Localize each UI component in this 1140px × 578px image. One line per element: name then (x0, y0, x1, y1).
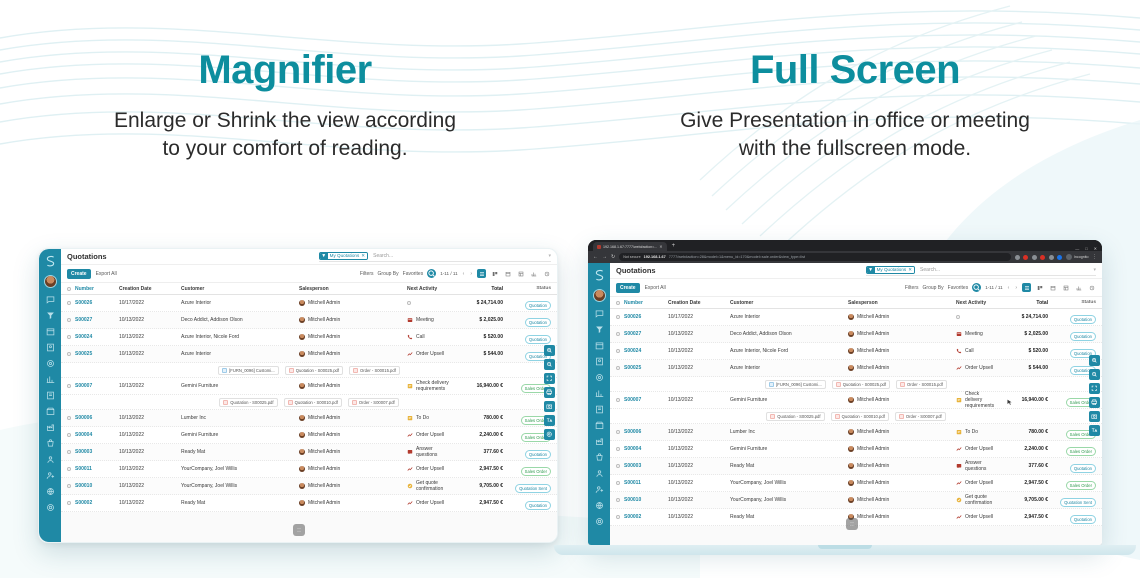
facet-remove-icon[interactable]: ✕ (908, 266, 914, 274)
attachment-chip[interactable]: Quotation - S00010.pdf (831, 412, 889, 421)
column-header-creation-date[interactable]: Creation Date (668, 300, 730, 306)
browser-toolbar: ← → ↻ Not secure 192.168.1.67 7777/web#a… (588, 251, 1102, 263)
translate-button[interactable] (544, 415, 555, 426)
print-button[interactable] (544, 387, 555, 398)
window-close-button[interactable]: ✕ (1094, 246, 1097, 251)
status-badge: Quotation Sent (515, 484, 551, 493)
table-row[interactable]: S0000410/13/2022Gemini FurnitureMitchell… (610, 441, 1102, 458)
cell-next-activity: Order Upsell (956, 480, 996, 486)
cell-status: Quotation (1048, 325, 1096, 343)
attachment-pdf-icon (289, 368, 294, 373)
browser-back-button[interactable]: ← (593, 254, 598, 260)
attachment-chip[interactable]: Quotation - S00025.pdf (832, 380, 890, 389)
column-header-customer[interactable]: Customer (181, 286, 299, 292)
pager-count: 1-11 / 11 (985, 285, 1002, 290)
extension-icon-4[interactable] (1049, 255, 1054, 260)
screenshot-button[interactable] (544, 401, 555, 412)
sidebar-icon-invoicing[interactable] (46, 391, 55, 400)
cell-customer: Deco Addict, Addison Olson (181, 317, 299, 323)
user-avatar[interactable] (593, 289, 606, 302)
view-button-pivot[interactable] (1061, 283, 1070, 292)
cell-salesperson: Mitchell Admin (848, 314, 956, 320)
search-input[interactable]: Search... (920, 267, 1093, 273)
column-header-next-activity[interactable]: Next Activity (407, 286, 451, 292)
table-row[interactable]: S0001010/13/2022YourCompany, Joel Willis… (610, 492, 1102, 509)
cell-next-activity: Order Upsell (407, 351, 451, 357)
cell-salesperson: Mitchell Admin (299, 466, 407, 472)
column-header-status[interactable]: Status (503, 286, 551, 291)
sidebar-icon-inventory[interactable] (595, 421, 604, 430)
cell-total: 2,947.50 € (451, 466, 503, 472)
cell-number[interactable]: S00025 (620, 365, 668, 371)
laptop-trackpad-notch (818, 545, 872, 549)
table-row[interactable]: S0002510/13/2022Azure InteriorMitchell A… (610, 360, 1102, 377)
cell-salesperson: Mitchell Admin (848, 497, 956, 503)
cell-number[interactable]: S00027 (71, 317, 119, 323)
cell-next-activity: Check delivery requirements (407, 380, 451, 392)
pager-count: 1-11 / 11 (440, 271, 457, 276)
cell-next-activity: Call (956, 348, 996, 354)
todo-icon (407, 383, 413, 389)
export-all-button[interactable]: Export All (645, 285, 666, 291)
cell-customer: Ready Mat (730, 463, 848, 469)
extension-icon-3[interactable] (1040, 255, 1045, 260)
favorites-dropdown[interactable]: Favorites (403, 271, 424, 277)
app-sidebar-laptop[interactable] (588, 263, 610, 545)
dock-settings-button[interactable] (544, 429, 555, 440)
cell-total: 2,947.50 € (451, 500, 503, 506)
facet-label: My Quotations (875, 266, 909, 274)
odoo-app-laptop: Quotations ▼ My Quotations ✕ Search... ▾ (588, 263, 1102, 545)
table-row[interactable]: S0001110/13/2022YourCompany, Joel Willis… (61, 461, 557, 478)
sidebar-icon-settings[interactable] (46, 503, 55, 512)
salesperson-avatar (848, 365, 854, 371)
view-button-graph[interactable] (529, 269, 538, 278)
magnifier-icon (427, 269, 436, 278)
facet-remove-icon[interactable]: ✕ (361, 252, 367, 260)
view-button-activity[interactable] (1087, 283, 1096, 292)
pager-prev-button[interactable]: ‹ (462, 271, 466, 277)
cell-total: 780.00 € (996, 429, 1048, 435)
cell-salesperson: Mitchell Admin (299, 449, 407, 455)
salesperson-avatar (848, 463, 854, 469)
cell-next-activity: Order Upsell (407, 432, 451, 438)
favorites-dropdown[interactable]: Favorites (948, 285, 969, 291)
cell-total: 2,947.50 € (996, 480, 1048, 486)
column-header-salesperson[interactable]: Salesperson (848, 300, 956, 306)
column-header-customer[interactable]: Customer (730, 300, 848, 306)
cell-number[interactable]: S00026 (71, 300, 119, 306)
sidebar-icon-filter[interactable] (46, 311, 55, 320)
create-button-label: Create (620, 285, 636, 291)
cell-creation-date: 10/13/2022 (668, 446, 730, 452)
browser-tab[interactable]: 192.168.1.67:7777/web#action=... ✕ (593, 242, 667, 251)
new-tab-button[interactable]: + (672, 242, 676, 251)
browser-forward-button[interactable]: → (602, 254, 607, 260)
bookmark-star-icon[interactable] (1015, 255, 1020, 260)
magnifier-subtitle-line2: to your comfort of reading. (162, 137, 407, 160)
search-area[interactable]: ▼ My Quotations ✕ Search... ▾ (319, 252, 551, 262)
filters-dropdown[interactable]: Filters (905, 285, 919, 291)
cell-customer: YourCompany, Joel Willis (181, 466, 299, 472)
todo-icon (407, 415, 413, 421)
column-header-next-activity[interactable]: Next Activity (956, 300, 996, 306)
column-header-creation-date[interactable]: Creation Date (119, 286, 181, 292)
search-toggle-icon[interactable]: ▾ (548, 253, 551, 259)
table-row[interactable]: S0000710/13/2022Gemini FurnitureMitchell… (610, 392, 1102, 409)
sidebar-icon-manufacturing[interactable] (46, 423, 55, 432)
sidebar-icon-website[interactable] (595, 501, 604, 510)
window-controls: — □ ✕ (1075, 246, 1102, 251)
fullscreen-button[interactable] (544, 373, 555, 384)
section-magnifier: Magnifier Enlarge or Shrink the view acc… (0, 0, 570, 162)
salesperson-avatar (299, 449, 305, 455)
cell-customer: YourCompany, Joel Willis (730, 480, 848, 486)
column-header-number[interactable]: Number (71, 286, 119, 292)
extension-icon-2[interactable] (1032, 255, 1037, 260)
attachment-chip-label: Quotation - S00010.pdf (842, 414, 885, 419)
cell-salesperson: Mitchell Admin (299, 300, 407, 306)
pager-next-button[interactable]: › (469, 271, 473, 277)
cell-next-activity: Order Upsell (956, 514, 996, 520)
attachment-pdf-icon (770, 414, 775, 419)
incognito-profile-chip[interactable]: Incognito (1066, 254, 1089, 260)
cell-creation-date: 10/13/2022 (668, 480, 730, 486)
sidebar-icon-employees[interactable] (46, 455, 55, 464)
extension-icon-1[interactable] (1023, 255, 1028, 260)
attachment-chip-label: Quotation - S00025.pdf (777, 414, 820, 419)
sidebar-icon-recruitment[interactable] (46, 471, 55, 480)
cell-total: $ 544.00 (996, 365, 1048, 371)
sidebar-icon-sales[interactable] (46, 359, 55, 368)
sidebar-icon-reporting[interactable] (595, 389, 604, 398)
cell-customer: Gemini Furniture (181, 432, 299, 438)
cell-creation-date: 10/13/2022 (668, 331, 730, 337)
cell-status: Sales Order (1048, 440, 1096, 458)
upsell-icon (407, 466, 413, 472)
zoom-out-button[interactable] (544, 359, 555, 370)
search-toggle-icon[interactable]: ▾ (1093, 267, 1096, 273)
attachment-chip[interactable]: Quotation - S00010.pdf (284, 398, 342, 407)
cell-number[interactable]: S00004 (620, 446, 668, 452)
pager-prev-button[interactable]: ‹ (1007, 285, 1011, 291)
sidebar-icon-calendar[interactable] (595, 341, 604, 350)
sidebar-icon-website[interactable] (46, 487, 55, 496)
view-button-kanban[interactable] (1035, 283, 1044, 292)
question-icon (407, 449, 413, 455)
cell-number[interactable]: S00011 (620, 480, 668, 486)
cell-creation-date: 10/13/2022 (119, 351, 181, 357)
salesperson-avatar (299, 432, 305, 438)
cell-salesperson: Mitchell Admin (299, 317, 407, 323)
cell-number[interactable]: S00010 (71, 483, 119, 489)
table-row[interactable]: S0001010/13/2022YourCompany, Joel Willis… (61, 478, 557, 495)
create-button[interactable]: Create (67, 269, 91, 279)
pager-next-button[interactable]: › (1014, 285, 1018, 291)
cell-customer: Azure Interior (730, 314, 848, 320)
table-row[interactable]: S0002510/13/2022Azure InteriorMitchell A… (61, 346, 557, 363)
sidebar-icon-settings[interactable] (595, 517, 604, 526)
drag-handle-chip[interactable] (293, 524, 305, 536)
table-row[interactable]: S0002610/17/2022Azure InteriorMitchell A… (610, 309, 1102, 326)
table-row[interactable]: S0000610/13/2022Lumber IncMitchell Admin… (61, 410, 557, 427)
sidebar-icon-messages[interactable] (595, 309, 604, 318)
sidebar-icon-employees[interactable] (595, 469, 604, 478)
tab-close-icon[interactable]: ✕ (659, 244, 662, 249)
view-button-kanban[interactable] (490, 269, 499, 278)
browser-menu-button[interactable]: ⋮ (1092, 254, 1097, 260)
cell-creation-date: 10/13/2022 (119, 334, 181, 340)
attachment-chip-label: [FURN_0096] Customi... (776, 382, 822, 387)
cell-number[interactable]: S00002 (620, 514, 668, 520)
browser-reload-button[interactable]: ↻ (611, 254, 615, 260)
table-row[interactable]: S0002710/13/2022Deco Addict, Addison Ols… (61, 312, 557, 329)
cell-number[interactable]: S00002 (71, 500, 119, 506)
attachment-chip[interactable]: Quotation - S00025.pdf (766, 412, 824, 421)
view-button-graph[interactable] (1074, 283, 1083, 292)
cell-total: $ 2,025.00 (451, 317, 503, 323)
status-badge: Quotation (1070, 464, 1096, 473)
cell-total: 16,940.00 € (451, 383, 503, 389)
filters-dropdown[interactable]: Filters (360, 271, 374, 277)
cell-status: Quotation Sent (503, 477, 551, 495)
incognito-icon (1066, 254, 1072, 260)
app-logo-icon (43, 254, 58, 269)
table-row[interactable]: S0002610/17/2022Azure InteriorMitchell A… (61, 295, 557, 312)
cell-number[interactable]: S00025 (71, 351, 119, 357)
sidebar-icon-messages[interactable] (46, 295, 55, 304)
column-header-salesperson[interactable]: Salesperson (299, 286, 407, 292)
salesperson-avatar (848, 480, 854, 486)
translate-button[interactable] (1089, 425, 1100, 436)
table-row[interactable]: S0000310/13/2022Ready MatMitchell AdminA… (61, 444, 557, 461)
search-facet-my-quotations[interactable]: ▼ My Quotations ✕ (866, 266, 915, 274)
cell-number[interactable]: S00004 (71, 432, 119, 438)
status-badge: Quotation (1070, 515, 1096, 524)
cell-total: 377.60 € (996, 463, 1048, 469)
cell-salesperson: Mitchell Admin (848, 429, 956, 435)
table-row[interactable]: S0000610/13/2022Lumber IncMitchell Admin… (610, 424, 1102, 441)
cell-total: $ 520.00 (996, 348, 1048, 354)
salesperson-avatar (299, 351, 305, 357)
sidebar-icon-filter[interactable] (595, 325, 604, 334)
table-row[interactable]: S0001110/13/2022YourCompany, Joel Willis… (610, 475, 1102, 492)
sidebar-icon-purchase[interactable] (595, 453, 604, 462)
attachment-chip[interactable]: Quotation - S00025.pdf (219, 398, 277, 407)
table-row[interactable]: S0002410/13/2022Azure Interior, Nicole F… (61, 329, 557, 346)
attachment-xls-icon (769, 382, 774, 387)
status-badge: Quotation Sent (1060, 498, 1096, 507)
cell-number[interactable]: S00006 (71, 415, 119, 421)
attachment-chip[interactable]: [FURN_0096] Customi... (765, 380, 826, 389)
search-input[interactable]: Search... (373, 253, 548, 259)
column-header-total[interactable]: Total (451, 286, 503, 292)
attachment-row: [FURN_0096] Customi...Quotation - S00025… (61, 363, 557, 378)
cell-next-activity (956, 315, 996, 319)
salesperson-avatar (848, 314, 854, 320)
cell-number[interactable]: S00007 (620, 397, 668, 403)
magnifier-toggle-button[interactable] (427, 269, 436, 278)
salesperson-avatar (299, 483, 305, 489)
breadcrumb[interactable]: Quotations (616, 266, 656, 275)
browser-tab-title: 192.168.1.67:7777/web#action=... (603, 245, 657, 249)
cell-number[interactable]: S00010 (620, 497, 668, 503)
zoom-in-button[interactable] (1089, 355, 1100, 366)
view-button-calendar[interactable] (503, 269, 512, 278)
cell-creation-date: 10/13/2022 (119, 500, 181, 506)
meeting-icon (956, 331, 962, 337)
drag-dots-icon (296, 527, 302, 533)
sidebar-icon-recruitment[interactable] (595, 485, 604, 494)
control-panel-actions: Filters Group By Favorites 1-11 / 11 ‹ › (360, 269, 551, 278)
cell-next-activity: Call (407, 334, 451, 340)
fullscreen-button[interactable] (1089, 383, 1100, 394)
cell-next-activity: Order Upsell (407, 500, 451, 506)
cell-salesperson: Mitchell Admin (848, 446, 956, 452)
column-header-total[interactable]: Total (996, 300, 1048, 306)
salesperson-avatar (299, 466, 305, 472)
status-badge: Quotation (525, 301, 551, 310)
view-button-pivot[interactable] (516, 269, 525, 278)
attachment-row: Quotation - S00025.pdfQuotation - S00010… (61, 395, 557, 410)
table-header-row: Number Creation Date Customer Salesperso… (61, 282, 557, 295)
cell-next-activity: To Do (956, 429, 996, 435)
cell-number[interactable]: S00026 (620, 314, 668, 320)
column-header-status[interactable]: Status (1048, 300, 1096, 305)
cell-number[interactable]: S00003 (620, 463, 668, 469)
cell-number[interactable]: S00027 (620, 331, 668, 337)
cell-salesperson: Mitchell Admin (848, 463, 956, 469)
groupby-dropdown[interactable]: Group By (378, 271, 399, 277)
fullscreen-subtitle: Give Presentation in office or meeting w… (570, 107, 1140, 162)
column-header-number[interactable]: Number (620, 300, 668, 306)
magnifier-tool-dock[interactable] (544, 345, 555, 440)
export-button-label: Export All (645, 285, 666, 291)
zoom-out-button[interactable] (1089, 369, 1100, 380)
headings-row: Magnifier Enlarge or Shrink the view acc… (0, 0, 1140, 162)
user-avatar[interactable] (44, 275, 57, 288)
attachment-pdf-icon (353, 368, 358, 373)
browser-address-bar[interactable]: Not secure 192.168.1.67 7777/web#action=… (619, 253, 1011, 261)
cell-salesperson: Mitchell Admin (299, 500, 407, 506)
view-button-list[interactable] (1022, 283, 1031, 292)
sidebar-icon-contacts[interactable] (595, 357, 604, 366)
magnifier-toggle-button[interactable] (972, 283, 981, 292)
cell-creation-date: 10/13/2022 (668, 497, 730, 503)
create-button[interactable]: Create (616, 283, 640, 293)
attachment-chip[interactable]: Order - S00007.pdf (895, 412, 946, 421)
print-button[interactable] (1089, 397, 1100, 408)
sidebar-icon-sales[interactable] (595, 373, 604, 382)
table-row[interactable]: S0002710/13/2022Deco Addict, Addison Ols… (610, 326, 1102, 343)
sidebar-icon-calendar[interactable] (46, 327, 55, 336)
table-row[interactable]: S0000210/13/2022Ready MatMitchell AdminO… (61, 495, 557, 512)
sidebar-icon-contacts[interactable] (46, 343, 55, 352)
cell-customer: Ready Mat (181, 500, 299, 506)
table-row[interactable]: S0000710/13/2022Gemini FurnitureMitchell… (61, 378, 557, 395)
cell-salesperson: Mitchell Admin (299, 483, 407, 489)
sidebar-icon-reporting[interactable] (46, 375, 55, 384)
screenshot-button[interactable] (1089, 411, 1100, 422)
confirm-icon (407, 483, 413, 489)
cell-status: Quotation (503, 494, 551, 512)
attachment-chip[interactable]: Order - S00007.pdf (348, 398, 399, 407)
view-button-calendar[interactable] (1048, 283, 1057, 292)
search-area[interactable]: ▼ My Quotations ✕ Search... ▾ (866, 266, 1096, 276)
table-row[interactable]: S0000310/13/2022Ready MatMitchell AdminA… (610, 458, 1102, 475)
window-maximize-button[interactable]: □ (1085, 246, 1087, 251)
window-minimize-button[interactable]: — (1075, 246, 1079, 251)
table-header-row: Number Creation Date Customer Salesperso… (610, 296, 1102, 309)
cell-total: $ 544.00 (451, 351, 503, 357)
cell-customer: YourCompany, Joel Willis (181, 483, 299, 489)
export-all-button[interactable]: Export All (96, 271, 117, 277)
cell-total: 9,705.00 € (996, 497, 1048, 503)
cell-status: Sales Order (1048, 474, 1096, 492)
cell-status: Quotation (1048, 308, 1096, 326)
extension-icon-5[interactable] (1057, 255, 1062, 260)
attachment-chip[interactable]: Order - S00015.pdf (349, 366, 400, 375)
cell-next-activity: Answer questions (407, 446, 451, 458)
sidebar-icon-purchase[interactable] (46, 439, 55, 448)
sidebar-icon-invoicing[interactable] (595, 405, 604, 414)
sidebar-icon-inventory[interactable] (46, 407, 55, 416)
drag-dots-icon (849, 521, 855, 527)
cell-status: Sales Order (503, 460, 551, 478)
cell-customer: Ready Mat (181, 449, 299, 455)
cell-number[interactable]: S00011 (71, 466, 119, 472)
cell-creation-date: 10/13/2022 (119, 432, 181, 438)
view-button-activity[interactable] (542, 269, 551, 278)
app-sidebar-tablet[interactable] (39, 249, 61, 542)
activity-empty-icon (407, 301, 411, 305)
fullscreen-title: Full Screen (570, 48, 1140, 93)
cell-number[interactable]: S00006 (620, 429, 668, 435)
view-button-list[interactable] (477, 269, 486, 278)
cell-salesperson: Mitchell Admin (299, 383, 407, 389)
attachment-chip[interactable]: [FURN_0096] Customi... (218, 366, 279, 375)
cell-number[interactable]: S00003 (71, 449, 119, 455)
cell-creation-date: 10/13/2022 (668, 365, 730, 371)
attachment-chip[interactable]: Quotation - S00025.pdf (285, 366, 343, 375)
sidebar-icon-manufacturing[interactable] (595, 437, 604, 446)
drag-handle-chip[interactable] (846, 518, 858, 530)
cell-next-activity: Meeting (407, 317, 451, 323)
magnifier-tool-dock[interactable] (1089, 355, 1100, 436)
cell-next-activity: Get quote confirmation (956, 494, 996, 506)
table-row[interactable]: S0002410/13/2022Azure Interior, Nicole F… (610, 343, 1102, 360)
cell-customer: Lumber Inc (181, 415, 299, 421)
table-row[interactable]: S0000410/13/2022Gemini FurnitureMitchell… (61, 427, 557, 444)
attachment-pdf-icon (836, 382, 841, 387)
cell-number[interactable]: S00007 (71, 383, 119, 389)
cell-next-activity: Order Upsell (407, 466, 451, 472)
zoom-in-button[interactable] (544, 345, 555, 356)
salesperson-avatar (848, 348, 854, 354)
cell-number[interactable]: S00024 (71, 334, 119, 340)
call-icon (407, 334, 413, 340)
cell-total: $ 2,025.00 (996, 331, 1048, 337)
laptop-page-content: Quotations ▼ My Quotations ✕ Search... ▾ (588, 263, 1102, 545)
control-panel-bottom-tablet: Create Export All Filters Group By Favor… (61, 265, 557, 282)
cell-customer: Lumber Inc (730, 429, 848, 435)
cell-number[interactable]: S00024 (620, 348, 668, 354)
attachment-chip[interactable]: Order - S00015.pdf (896, 380, 947, 389)
groupby-dropdown[interactable]: Group By (923, 285, 944, 291)
search-facet-my-quotations[interactable]: ▼ My Quotations ✕ (319, 252, 368, 260)
control-panel-bottom-laptop: Create Export All Filters Group By Favor… (610, 279, 1102, 296)
breadcrumb[interactable]: Quotations (67, 252, 107, 261)
